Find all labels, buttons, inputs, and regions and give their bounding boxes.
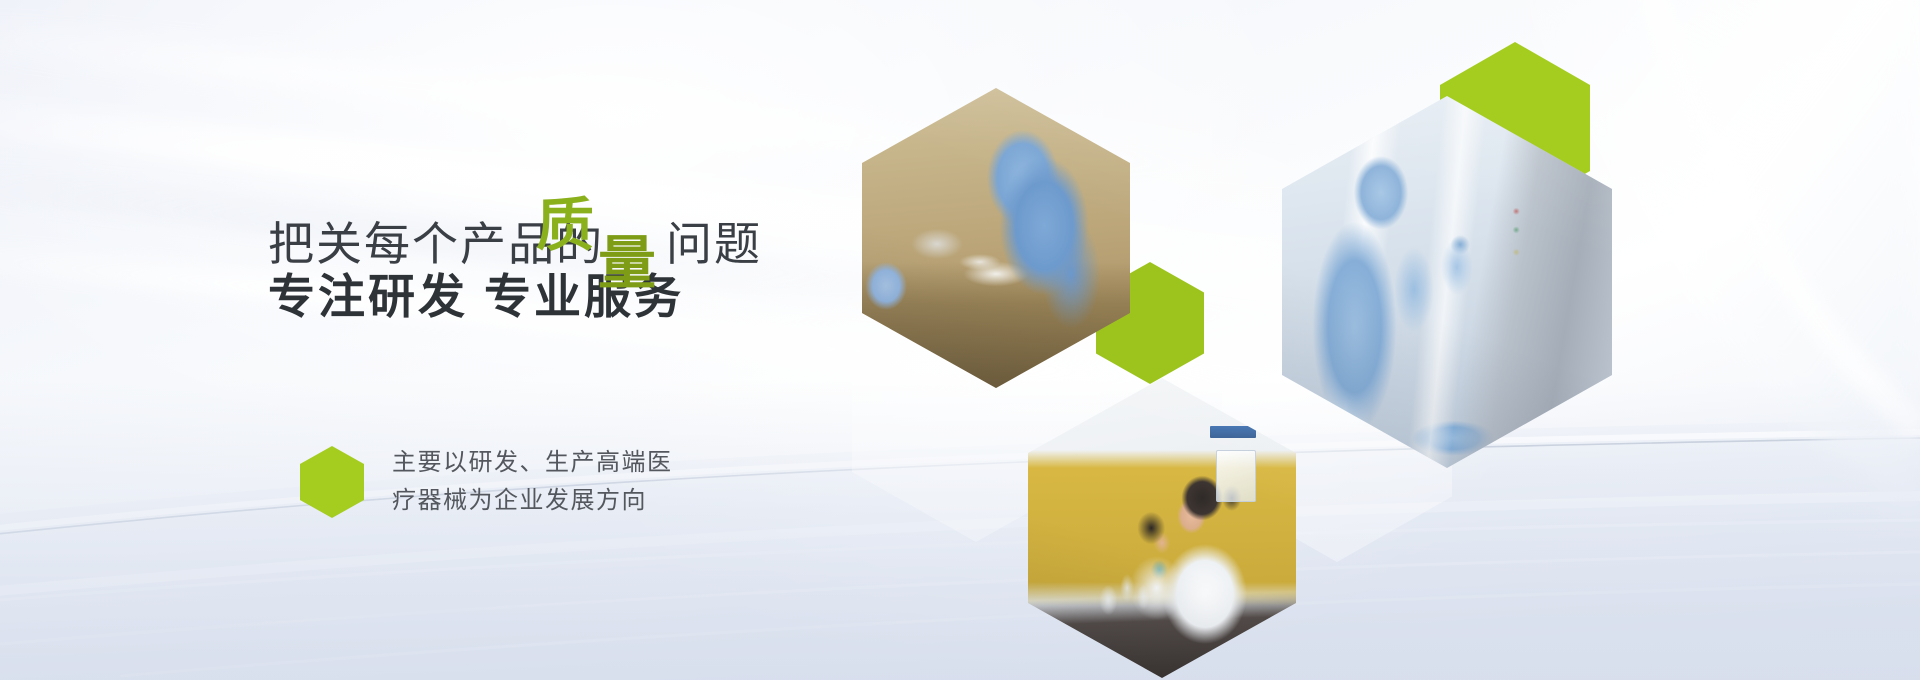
hexagon-bullet-icon bbox=[300, 446, 364, 518]
headline-highlight-quality-1: 质 bbox=[536, 178, 594, 262]
subtitle-text: 主要以研发、生产高端医 疗器械为企业发展方向 bbox=[392, 440, 673, 520]
hexagon-cluster bbox=[0, 0, 1920, 680]
hero-banner: 把关每个产品的 质 量 问题 专注研发 专业服务 主要以研发、生产高端医 疗器械… bbox=[0, 0, 1920, 680]
headline-line-1: 把关每个产品的 质 量 问题 bbox=[268, 178, 988, 264]
banner-text-block: 把关每个产品的 质 量 问题 专注研发 专业服务 bbox=[268, 178, 988, 327]
subtitle-row: 主要以研发、生产高端医 疗器械为企业发展方向 bbox=[300, 440, 673, 520]
headline-highlight-quality-2: 量 bbox=[598, 216, 656, 300]
headline-suffix: 问题 bbox=[666, 208, 762, 274]
